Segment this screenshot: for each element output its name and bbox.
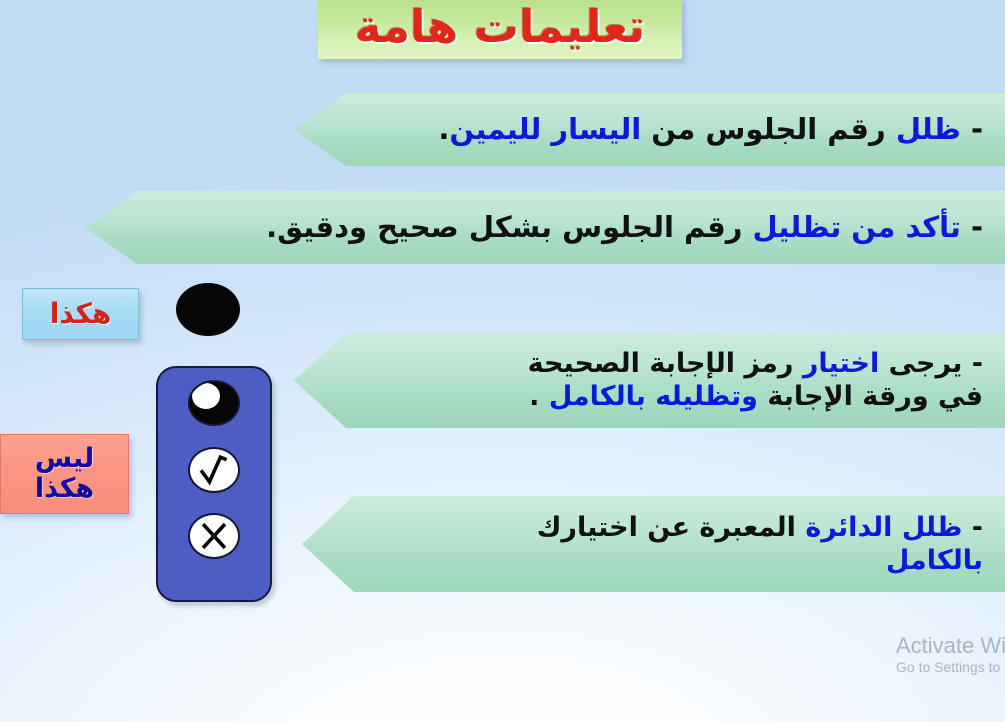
- highlighted-phrase: ظلل: [896, 112, 961, 146]
- highlighted-phrase: ظلل الدائرة: [805, 512, 962, 543]
- label-wrong-example: ليس هكذا: [0, 434, 129, 514]
- watermark-subtitle: Go to Settings to: [896, 659, 1005, 676]
- label-wrong-text-line-1: ليس: [35, 444, 94, 474]
- slide-title-box: تعليمات هامة: [318, 0, 682, 59]
- filled-circle-icon: [176, 283, 240, 336]
- instruction-line: - يرجى اختيار رمز الإجابة الصحيحة: [356, 348, 983, 380]
- highlighted-phrase: وتظليله بالكامل: [549, 381, 758, 412]
- label-correct-example: هكذا: [22, 288, 139, 340]
- plain-phrase: -: [961, 210, 983, 244]
- instruction-line: بالكامل: [364, 545, 983, 577]
- instruction-banner-seat-number-accuracy: - تأكد من تظليل رقم الجلوس بشكل صحيح ودق…: [85, 191, 1005, 264]
- highlighted-phrase: اختيار: [803, 348, 879, 379]
- wrong-marks-panel: [156, 366, 272, 602]
- instruction-banner-shade-circle-fully: - ظلل الدائرة المعبرة عن اختيارك بالكامل: [302, 496, 1005, 592]
- cross-mark-circle-icon: [188, 513, 240, 559]
- highlighted-phrase: اليسار لليمين: [449, 112, 641, 146]
- page-title: تعليمات هامة: [355, 4, 645, 53]
- plain-phrase: -: [961, 112, 983, 146]
- plain-phrase: المعبرة عن اختيارك: [537, 512, 806, 543]
- highlighted-phrase: تأكد من تظليل: [753, 210, 961, 244]
- crescent-highlight: [192, 383, 220, 409]
- label-correct-text: هكذا: [50, 300, 111, 328]
- plain-phrase: .: [438, 112, 449, 146]
- windows-activation-watermark: Activate Win Go to Settings to: [896, 634, 1005, 676]
- plain-phrase: في ورقة الإجابة: [758, 381, 983, 412]
- plain-phrase: - يرجى: [879, 348, 983, 379]
- instruction-line: في ورقة الإجابة وتظليله بالكامل .: [356, 381, 983, 413]
- highlighted-phrase: بالكامل: [886, 545, 983, 576]
- plain-phrase: .: [529, 381, 549, 412]
- plain-phrase: -: [962, 512, 983, 543]
- label-wrong-text-line-2: هكذا: [35, 474, 94, 504]
- instruction-line: - ظلل الدائرة المعبرة عن اختيارك: [364, 512, 983, 544]
- plain-phrase: رمز الإجابة الصحيحة: [528, 348, 803, 379]
- plain-phrase: رقم الجلوس بشكل صحيح ودقيق.: [266, 210, 752, 244]
- check-mark-circle-icon: [188, 447, 240, 493]
- watermark-title: Activate Win: [896, 634, 1005, 657]
- slide-canvas: تعليمات هامة - ظلل رقم الجلوس من اليسار …: [0, 0, 1005, 722]
- partially-filled-circle-icon: [188, 380, 240, 426]
- plain-phrase: رقم الجلوس من: [641, 112, 896, 146]
- instruction-line: - تأكد من تظليل رقم الجلوس بشكل صحيح ودق…: [145, 210, 983, 244]
- instruction-banner-seat-number-direction: - ظلل رقم الجلوس من اليسار لليمين.: [294, 93, 1005, 166]
- instruction-line: - ظلل رقم الجلوس من اليسار لليمين.: [354, 112, 983, 146]
- instruction-banner-choose-correct-answer: - يرجى اختيار رمز الإجابة الصحيحة في ورق…: [294, 333, 1005, 428]
